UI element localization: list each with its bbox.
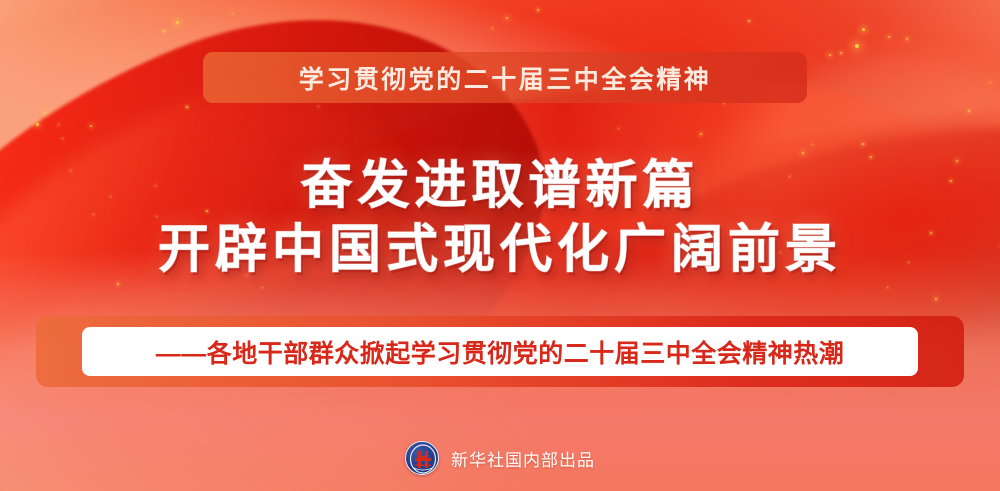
headline-line-2: 开辟中国式现代化广阔前景	[0, 222, 1000, 278]
poster-root: 学习贯彻党的二十届三中全会精神 奋发进取谱新篇 开辟中国式现代化广阔前景 ——各…	[0, 0, 1000, 491]
headline: 奋发进取谱新篇 开辟中国式现代化广阔前景	[0, 158, 1000, 278]
top-banner-text: 学习贯彻党的二十届三中全会精神	[299, 60, 712, 96]
top-banner: 学习贯彻党的二十届三中全会精神	[203, 52, 807, 103]
headline-line-1: 奋发进取谱新篇	[0, 158, 1000, 214]
subtitle-plate: ——各地干部群众掀起学习贯彻党的二十届三中全会精神热潮	[82, 327, 918, 376]
footer-text: 新华社国内部出品	[451, 446, 595, 471]
footer: 新华社国内部出品	[0, 441, 1000, 475]
subtitle-text: ——各地干部群众掀起学习贯彻党的二十届三中全会精神热潮	[156, 334, 845, 370]
xinhua-agency-logo-icon	[405, 441, 439, 475]
